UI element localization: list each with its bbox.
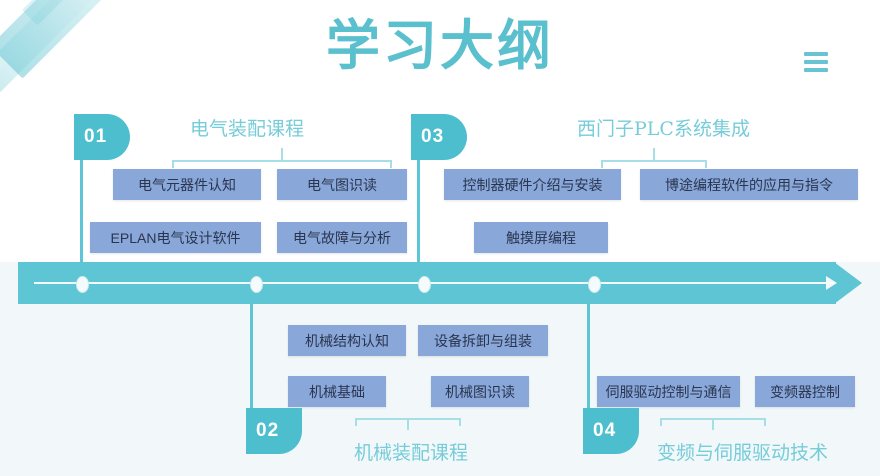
timeline-node[interactable] <box>588 276 601 293</box>
section-badge-03[interactable]: 03 <box>411 114 467 160</box>
section-badge-01[interactable]: 01 <box>74 114 130 160</box>
section-badge-04[interactable]: 04 <box>583 408 639 454</box>
section-bracket-01 <box>172 148 392 170</box>
bracket-tick-right <box>705 160 707 168</box>
course-box[interactable]: 控制器硬件介绍与安装 <box>444 169 621 200</box>
course-box[interactable]: 触摸屏编程 <box>474 222 608 253</box>
connector-stem-01 <box>80 152 83 264</box>
slide-canvas: 学习大纲 01 电气装配课程 电气元器件认知 电气图识读 EPLAN电气设计软件… <box>0 0 880 476</box>
timeline-node[interactable] <box>418 276 431 293</box>
section-badge-02[interactable]: 02 <box>246 408 302 454</box>
bracket-stem <box>653 148 655 160</box>
bracket-tick-left <box>172 160 174 168</box>
hamburger-menu-icon[interactable] <box>804 52 828 72</box>
bracket-stem <box>712 418 714 430</box>
connector-stem-03 <box>417 152 420 264</box>
arrow-axis-tip <box>826 276 837 290</box>
section-title-04: 变频与伺服驱动技术 <box>657 438 828 465</box>
page-title: 学习大纲 <box>0 18 880 75</box>
timeline-arrow <box>18 262 862 304</box>
course-box[interactable]: 机械图识读 <box>431 376 529 407</box>
timeline-node[interactable] <box>76 276 89 293</box>
arrow-head <box>834 262 862 304</box>
course-box[interactable]: 电气元器件认知 <box>113 169 261 200</box>
connector-stem-02 <box>250 300 253 408</box>
timeline-node[interactable] <box>250 276 263 293</box>
course-box[interactable]: 伺服驱动控制与通信 <box>597 376 740 407</box>
course-box[interactable]: 机械结构认知 <box>288 325 406 356</box>
section-bracket-03 <box>601 148 707 170</box>
bracket-tick-right <box>459 418 461 426</box>
bracket-stem <box>407 418 409 430</box>
menu-bar <box>804 60 828 64</box>
section-title-02: 机械装配课程 <box>354 438 468 465</box>
course-box[interactable]: 博途编程软件的应用与指令 <box>640 169 858 200</box>
course-box[interactable]: 设备拆卸与组装 <box>418 325 548 356</box>
bracket-stem <box>281 148 283 160</box>
connector-stem-04 <box>587 300 590 408</box>
section-bracket-04 <box>660 418 766 440</box>
section-bracket-02 <box>355 418 461 440</box>
bracket-bar <box>172 160 392 162</box>
section-title-01: 电气装配课程 <box>190 114 304 141</box>
bracket-tick-left <box>601 160 603 168</box>
course-box[interactable]: 机械基础 <box>288 376 386 407</box>
course-box[interactable]: EPLAN电气设计软件 <box>90 222 261 253</box>
menu-bar <box>804 68 828 72</box>
course-box[interactable]: 电气故障与分析 <box>277 222 407 253</box>
course-box[interactable]: 变频器控制 <box>755 376 855 407</box>
course-box[interactable]: 电气图识读 <box>277 169 407 200</box>
arrow-axis-line <box>34 282 834 284</box>
bracket-tick-left <box>355 418 357 426</box>
menu-bar <box>804 52 828 56</box>
bracket-tick-left <box>660 418 662 426</box>
bracket-tick-right <box>390 160 392 168</box>
bracket-tick-right <box>764 418 766 426</box>
section-title-03: 西门子PLC系统集成 <box>577 114 750 141</box>
bracket-bar <box>601 160 707 162</box>
